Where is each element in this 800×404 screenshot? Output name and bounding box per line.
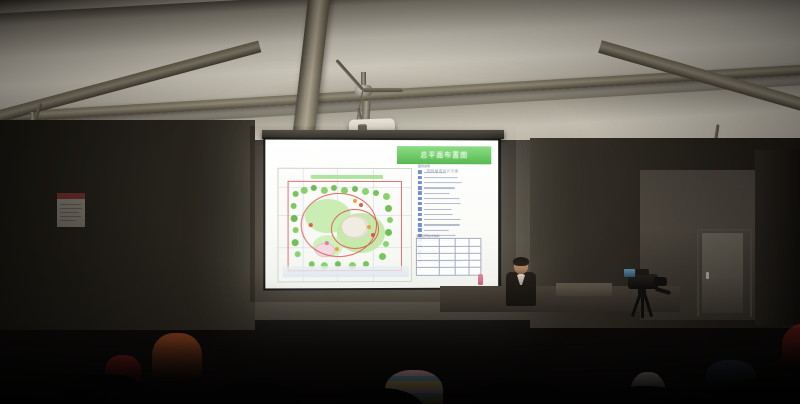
legend-swatch: [418, 186, 422, 189]
legend-entry: [418, 218, 464, 222]
legend-label-line: [424, 193, 450, 194]
legend-title: 图例说明: [418, 164, 430, 168]
legend-swatch: [418, 176, 422, 179]
legend-swatch: [418, 181, 422, 184]
legend-swatch: [418, 170, 422, 173]
audience-clothing-accent: [152, 333, 202, 383]
slide-title-text: 总平面布置图: [420, 150, 468, 160]
legend-swatch: [418, 228, 422, 231]
legend-label-line: [424, 177, 458, 178]
legend-label-line: [424, 219, 461, 220]
lecture-hall-photo: 总平面布置图 园林景观设计方案: [0, 0, 800, 404]
slide-title-banner: 总平面布置图: [397, 146, 491, 164]
audience-foreground-silhouette: [200, 382, 304, 404]
legend-swatch: [418, 218, 422, 221]
wall-notice-poster: [57, 193, 85, 227]
legend-entry: [418, 170, 464, 174]
legend-swatch: [418, 213, 422, 216]
audience-foreground-silhouette: [470, 380, 570, 404]
seated-audience: [0, 254, 800, 404]
legend-label-line: [424, 203, 461, 204]
audience-clothing-accent: [782, 322, 800, 372]
plan-green-band: [311, 175, 383, 179]
legend-entry: [418, 207, 464, 211]
legend-label-line: [424, 198, 460, 199]
legend-label-line: [424, 172, 446, 173]
fan-blade: [363, 88, 403, 92]
legend-entry: [418, 196, 464, 200]
legend-swatch: [418, 197, 422, 200]
legend-entry: [418, 181, 464, 185]
legend-swatch: [418, 223, 422, 226]
ceiling-fan-center-upper-icon: [320, 72, 406, 98]
legend-label-line: [424, 187, 455, 188]
legend-label-line: [424, 209, 452, 210]
legend-swatch: [418, 207, 422, 210]
legend-entry: [418, 175, 464, 179]
legend-entry: [418, 186, 464, 190]
legend-label-line: [424, 230, 449, 231]
legend-label-line: [424, 224, 460, 225]
legend-entry: [418, 212, 464, 216]
legend-entry: [418, 191, 464, 195]
legend-entry: [418, 223, 464, 227]
audience-foreground-silhouette: [600, 386, 692, 404]
legend-swatch: [418, 191, 422, 194]
legend-label-line: [424, 182, 462, 183]
legend-label-line: [424, 214, 453, 215]
legend-swatch: [418, 202, 422, 205]
poster-header: [57, 193, 85, 199]
legend-entry: [418, 202, 464, 206]
legend-entry: [418, 228, 464, 232]
